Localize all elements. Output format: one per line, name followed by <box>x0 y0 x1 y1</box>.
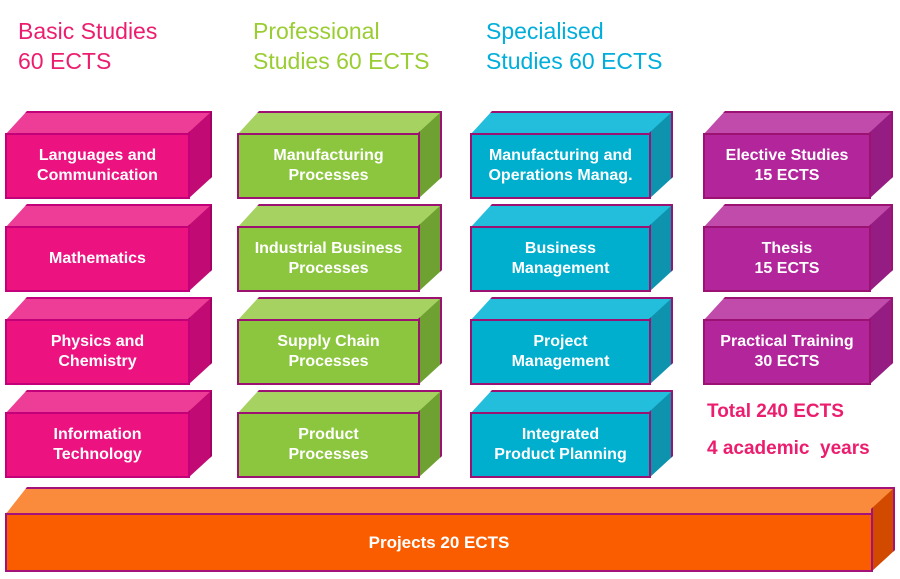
course-box-business-management[interactable]: Business Management <box>470 204 673 292</box>
box-top-face <box>703 204 893 228</box>
course-box-label: Business Management <box>508 239 614 279</box>
box-top-face <box>5 111 212 135</box>
course-box-label: Industrial Business Processes <box>251 239 407 279</box>
course-box-physics-and-chemistry[interactable]: Physics and Chemistry <box>5 297 212 385</box>
course-box-information-technology[interactable]: Information Technology <box>5 390 212 478</box>
course-box-label: Supply Chain Processes <box>273 332 383 372</box>
course-box-practical-training[interactable]: Practical Training 30 ECTS <box>703 297 893 385</box>
course-box-label: Mathematics <box>45 249 150 269</box>
box-front-face: Elective Studies 15 ECTS <box>703 133 871 199</box>
course-box-label: Integrated Product Planning <box>490 425 630 465</box>
column-header-specialised-studies: Specialised Studies 60 ECTS <box>486 16 662 76</box>
box-front-face: Languages and Communication <box>5 133 190 199</box>
box-front-face: Industrial Business Processes <box>237 226 420 292</box>
box-front-face: Information Technology <box>5 412 190 478</box>
box-top-face <box>237 204 442 228</box>
box-front-face: Manufacturing and Operations Manag. <box>470 133 651 199</box>
course-box-label: Manufacturing and Operations Manag. <box>484 146 636 186</box>
box-front-face: Projects 20 ECTS <box>5 513 873 572</box>
box-top-face <box>5 487 895 515</box>
course-box-label: Project Management <box>508 332 614 372</box>
box-front-face: Project Management <box>470 319 651 385</box>
box-top-face <box>237 111 442 135</box>
box-top-face <box>470 297 673 321</box>
course-box-label: Manufacturing Processes <box>269 146 387 186</box>
box-top-face <box>237 297 442 321</box>
box-top-face <box>5 297 212 321</box>
column-header-professional-studies: Professional Studies 60 ECTS <box>253 16 429 76</box>
course-box-label: Physics and Chemistry <box>47 332 148 372</box>
box-front-face: Practical Training 30 ECTS <box>703 319 871 385</box>
academic-years-text: 4 academic years <box>707 437 870 461</box>
box-top-face <box>470 111 673 135</box>
curriculum-diagram: Basic Studies 60 ECTS Professional Studi… <box>0 0 900 579</box>
box-top-face <box>703 297 893 321</box>
box-front-face: Supply Chain Processes <box>237 319 420 385</box>
course-box-industrial-business-processes[interactable]: Industrial Business Processes <box>237 204 442 292</box>
course-box-project-management[interactable]: Project Management <box>470 297 673 385</box>
course-box-elective-studies[interactable]: Elective Studies 15 ECTS <box>703 111 893 199</box>
course-box-thesis[interactable]: Thesis 15 ECTS <box>703 204 893 292</box>
box-top-face <box>703 111 893 135</box>
course-box-integrated-product-planning[interactable]: Integrated Product Planning <box>470 390 673 478</box>
course-box-manufacturing-and-operations-management[interactable]: Manufacturing and Operations Manag. <box>470 111 673 199</box>
total-ects-text: Total 240 ECTS <box>707 400 844 424</box>
box-top-face <box>470 204 673 228</box>
box-top-face <box>470 390 673 414</box>
projects-bar-label: Projects 20 ECTS <box>365 533 514 553</box>
course-box-label: Product Processes <box>284 425 372 465</box>
box-top-face <box>5 390 212 414</box>
course-box-label: Elective Studies 15 ECTS <box>722 146 853 186</box>
box-top-face <box>5 204 212 228</box>
box-front-face: Integrated Product Planning <box>470 412 651 478</box>
box-front-face: Thesis 15 ECTS <box>703 226 871 292</box>
course-box-product-processes[interactable]: Product Processes <box>237 390 442 478</box>
course-box-label: Thesis 15 ECTS <box>751 239 824 279</box>
course-box-mathematics[interactable]: Mathematics <box>5 204 212 292</box>
course-box-label: Information Technology <box>49 425 146 465</box>
course-box-manufacturing-processes[interactable]: Manufacturing Processes <box>237 111 442 199</box>
box-top-face <box>237 390 442 414</box>
course-box-label: Practical Training 30 ECTS <box>716 332 857 372</box>
box-front-face: Mathematics <box>5 226 190 292</box>
projects-bar[interactable]: Projects 20 ECTS <box>5 487 895 572</box>
course-box-supply-chain-processes[interactable]: Supply Chain Processes <box>237 297 442 385</box>
box-front-face: Physics and Chemistry <box>5 319 190 385</box>
box-front-face: Product Processes <box>237 412 420 478</box>
column-header-basic-studies: Basic Studies 60 ECTS <box>18 16 157 76</box>
box-front-face: Business Management <box>470 226 651 292</box>
course-box-languages-and-communication[interactable]: Languages and Communication <box>5 111 212 199</box>
course-box-label: Languages and Communication <box>33 146 162 186</box>
box-front-face: Manufacturing Processes <box>237 133 420 199</box>
